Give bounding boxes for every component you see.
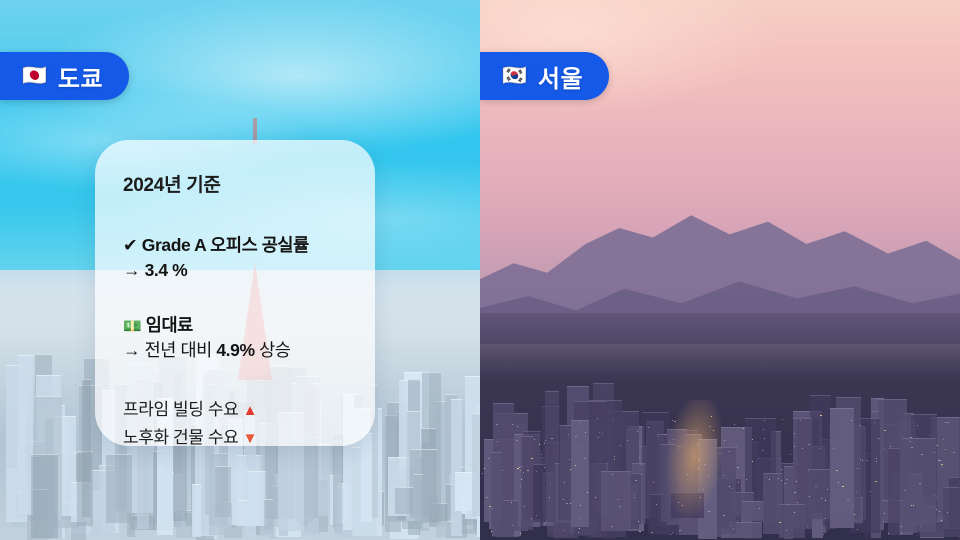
window-light — [876, 458, 877, 459]
rent-suffix: 상승 — [255, 340, 291, 360]
window-light — [617, 499, 619, 500]
window-light — [917, 438, 918, 439]
window-light — [635, 480, 637, 481]
window-light — [943, 439, 944, 440]
window-light — [936, 445, 938, 446]
window-light — [901, 526, 902, 527]
window-light — [484, 468, 485, 469]
window-light — [782, 419, 783, 420]
window-light — [890, 446, 891, 447]
window-light — [911, 505, 912, 506]
window-light — [914, 474, 915, 475]
window-light — [641, 474, 642, 475]
building-block — [779, 504, 806, 538]
window-light — [752, 439, 753, 440]
window-light — [511, 502, 512, 503]
window-light — [842, 486, 844, 487]
window-light — [911, 447, 913, 448]
tokyo-info-card: 2024년 기준 ✔ Grade A 오피스 공실률 → 3.4 % 💵 임대료… — [95, 140, 375, 446]
window-light — [599, 432, 600, 433]
window-light — [854, 514, 855, 515]
money-icon: 💵 — [123, 318, 141, 335]
window-light — [778, 478, 779, 479]
building-block — [31, 454, 58, 538]
demand-prime-row: 프라임 빌딩 수요 ▲ — [123, 396, 375, 424]
building-block — [106, 454, 132, 523]
window-light — [901, 533, 902, 534]
window-light — [953, 452, 955, 453]
window-light — [934, 452, 935, 453]
info-card-title: 2024년 기준 — [123, 170, 375, 197]
window-light — [496, 424, 498, 425]
window-light — [781, 480, 782, 481]
window-light — [942, 466, 943, 467]
window-light — [579, 528, 580, 529]
window-light — [595, 497, 596, 498]
window-light — [945, 449, 946, 450]
window-light — [641, 464, 642, 465]
window-light — [941, 520, 942, 521]
window-light — [733, 528, 734, 529]
window-light — [614, 456, 615, 457]
window-light — [904, 490, 906, 491]
window-light — [825, 518, 826, 519]
window-light — [639, 457, 640, 458]
window-light — [746, 479, 747, 480]
window-light — [637, 431, 638, 432]
window-light — [736, 446, 737, 447]
window-light — [634, 494, 635, 495]
south-korea-flag-icon: 🇰🇷 — [502, 66, 527, 86]
window-light — [859, 425, 861, 426]
building-block — [521, 436, 533, 530]
badge-tokyo[interactable]: 🇯🇵 도쿄 — [0, 52, 129, 100]
window-light — [752, 461, 753, 462]
window-light — [866, 460, 868, 461]
window-light — [732, 488, 733, 489]
window-light — [947, 422, 949, 423]
triangle-up-icon: ▲ — [243, 402, 257, 419]
window-light — [870, 491, 871, 492]
window-light — [802, 448, 803, 449]
building-block — [264, 499, 274, 529]
window-light — [815, 486, 817, 487]
window-light — [884, 448, 885, 449]
window-light — [786, 530, 787, 531]
window-light — [836, 470, 838, 471]
window-light — [521, 466, 522, 467]
window-light — [857, 529, 858, 530]
badge-seoul-label: 서울 — [538, 59, 583, 94]
window-light — [920, 526, 921, 527]
window-light — [570, 469, 571, 470]
window-light — [564, 530, 565, 531]
window-light — [638, 521, 639, 522]
rent-label: 임대료 — [146, 315, 193, 335]
window-light — [888, 533, 889, 534]
window-light — [794, 446, 795, 447]
window-light — [800, 420, 801, 421]
building-block — [571, 420, 589, 527]
window-light — [825, 500, 826, 501]
demand-prime-label: 프라임 빌딩 수요 — [123, 400, 238, 419]
window-light — [759, 508, 760, 509]
window-light — [575, 436, 577, 437]
building-block — [334, 441, 341, 533]
window-light — [523, 472, 524, 473]
window-light — [586, 508, 587, 509]
window-light — [857, 468, 858, 469]
window-light — [910, 441, 911, 442]
vacancy-value: 3.4 % — [145, 260, 188, 280]
building-block — [533, 464, 546, 522]
window-light — [639, 531, 641, 532]
window-light — [544, 523, 545, 524]
window-light — [947, 512, 948, 513]
window-light — [545, 440, 546, 441]
info-block-vacancy: ✔ Grade A 오피스 공실률 → 3.4 % — [123, 233, 375, 283]
window-light — [627, 440, 628, 441]
window-light — [531, 518, 532, 519]
window-light — [921, 454, 923, 455]
window-light — [568, 434, 569, 435]
seoul-road-lights-glow — [645, 400, 740, 540]
window-light — [541, 454, 542, 455]
window-light — [536, 515, 537, 516]
rent-value: 4.9% — [216, 340, 254, 360]
window-light — [781, 469, 782, 470]
building-block — [414, 474, 423, 528]
info-block-demand: 프라임 빌딩 수요 ▲ 노후화 건물 수요 ▼ — [123, 396, 375, 451]
window-light — [587, 492, 588, 493]
window-light — [884, 513, 885, 514]
window-light — [763, 429, 764, 430]
window-light — [939, 460, 941, 461]
rent-value-row: → 전년 대비 4.9% 상승 — [123, 338, 375, 363]
window-light — [520, 486, 521, 487]
window-light — [737, 467, 739, 468]
window-light — [613, 419, 614, 420]
window-light — [910, 437, 912, 438]
window-light — [550, 483, 551, 484]
window-light — [796, 481, 797, 482]
window-light — [862, 460, 863, 461]
window-light — [807, 526, 808, 527]
right-panel-seoul: 🇰🇷 서울 낡아가는 서울 3대 권역 오피스 (단위:%) 건물연한10년 미… — [480, 0, 960, 540]
demand-aged-label: 노후화 건물 수요 — [123, 428, 238, 447]
badge-tokyo-label: 도쿄 — [58, 59, 103, 94]
window-light — [797, 502, 798, 503]
window-light — [521, 479, 522, 480]
window-light — [489, 506, 491, 507]
building-block — [943, 487, 959, 537]
arrow-right-icon-2: → — [123, 340, 140, 360]
window-light — [597, 418, 598, 419]
window-light — [730, 525, 731, 526]
window-light — [784, 483, 786, 484]
window-light — [614, 459, 615, 460]
building-block — [503, 500, 518, 530]
demand-aged-row: 노후화 건물 수요 ▼ — [123, 424, 375, 452]
vacancy-value-row: → 3.4 % — [123, 258, 375, 283]
badge-seoul[interactable]: 🇰🇷 서울 — [480, 52, 609, 100]
window-light — [611, 526, 613, 527]
window-light — [575, 465, 576, 466]
window-light — [520, 533, 521, 534]
window-light — [875, 481, 877, 482]
window-light — [808, 470, 809, 471]
window-light — [648, 427, 649, 428]
building-block — [82, 379, 91, 517]
window-light — [847, 500, 849, 501]
window-light — [876, 461, 877, 462]
window-light — [838, 482, 839, 483]
window-light — [569, 459, 570, 460]
window-light — [546, 521, 547, 522]
window-light — [779, 522, 781, 523]
window-light — [517, 468, 519, 469]
window-light — [544, 467, 545, 468]
window-light — [534, 439, 535, 440]
window-light — [833, 448, 834, 449]
window-light — [769, 479, 770, 480]
window-light — [821, 498, 822, 499]
building-block — [192, 484, 201, 536]
window-light — [580, 422, 581, 423]
window-light — [612, 474, 613, 475]
window-light — [913, 505, 914, 506]
window-light — [598, 437, 599, 438]
window-light — [634, 497, 635, 498]
building-block — [18, 355, 33, 515]
window-light — [856, 491, 857, 492]
vacancy-label: Grade A 오피스 공실률 — [142, 235, 309, 255]
building-block — [888, 448, 901, 535]
window-light — [827, 530, 828, 531]
info-block-rent: 💵 임대료 → 전년 대비 4.9% 상승 — [123, 313, 375, 363]
check-icon: ✔ — [123, 235, 137, 255]
window-light — [883, 521, 884, 522]
vacancy-headline: ✔ Grade A 오피스 공실률 — [123, 233, 375, 258]
window-light — [578, 532, 579, 533]
window-light — [743, 428, 744, 429]
japan-flag-icon: 🇯🇵 — [22, 66, 47, 86]
window-light — [919, 483, 921, 484]
window-light — [884, 430, 886, 431]
window-light — [564, 482, 565, 483]
window-light — [764, 438, 765, 439]
window-light — [786, 479, 788, 480]
window-light — [945, 422, 946, 423]
window-light — [539, 444, 540, 445]
window-light — [794, 433, 795, 434]
window-light — [520, 470, 521, 471]
building-block — [472, 413, 480, 516]
window-light — [737, 520, 738, 521]
window-light — [482, 473, 483, 474]
window-light — [527, 470, 529, 471]
window-light — [602, 433, 603, 434]
rent-headline: 💵 임대료 — [123, 313, 375, 338]
building-block — [601, 471, 630, 531]
window-light — [794, 492, 796, 493]
window-light — [544, 443, 545, 444]
window-light — [516, 440, 518, 441]
window-light — [531, 458, 533, 459]
building-block — [830, 408, 855, 529]
window-light — [766, 477, 767, 478]
window-light — [512, 424, 513, 425]
window-light — [580, 505, 581, 506]
window-light — [820, 415, 822, 416]
window-light — [808, 444, 810, 445]
window-light — [619, 506, 621, 507]
window-light — [563, 499, 564, 500]
window-light — [788, 504, 789, 505]
window-light — [536, 471, 537, 472]
window-light — [794, 512, 795, 513]
building-block — [215, 466, 230, 517]
window-light — [517, 426, 518, 427]
window-light — [524, 506, 525, 507]
window-light — [790, 454, 791, 455]
window-light — [917, 425, 918, 426]
window-light — [491, 531, 492, 532]
window-light — [764, 420, 765, 421]
window-light — [566, 503, 568, 504]
window-light — [878, 438, 880, 439]
window-light — [827, 489, 828, 490]
window-light — [874, 422, 875, 423]
window-light — [584, 458, 586, 459]
window-light — [823, 534, 824, 535]
window-light — [570, 503, 571, 504]
window-light — [853, 504, 854, 505]
building-block — [902, 438, 936, 532]
window-light — [936, 509, 937, 510]
window-light — [929, 435, 930, 436]
window-light — [549, 497, 550, 498]
window-light — [512, 525, 513, 526]
window-light — [488, 458, 489, 459]
triangle-down-icon: ▼ — [243, 430, 257, 447]
window-light — [809, 496, 810, 497]
window-light — [819, 448, 820, 449]
comparison-infographic: 🇯🇵 도쿄 2024년 기준 ✔ Grade A 오피스 공실률 → 3.4 %… — [0, 0, 960, 540]
window-light — [934, 495, 935, 496]
building-block — [395, 487, 414, 513]
arrow-right-icon: → — [123, 260, 140, 280]
window-light — [851, 420, 852, 421]
window-light — [581, 447, 582, 448]
window-light — [502, 470, 503, 471]
window-light — [551, 438, 553, 439]
window-light — [762, 450, 764, 451]
window-light — [497, 441, 498, 442]
window-light — [738, 482, 739, 483]
window-light — [620, 445, 621, 446]
window-light — [580, 518, 581, 519]
building-block — [451, 399, 463, 535]
window-light — [486, 497, 488, 498]
left-panel-tokyo: 🇯🇵 도쿄 2024년 기준 ✔ Grade A 오피스 공실률 → 3.4 %… — [0, 0, 480, 540]
rent-prefix: 전년 대비 — [145, 340, 217, 360]
window-light — [860, 459, 861, 460]
window-light — [939, 511, 940, 512]
building-block — [742, 501, 763, 521]
window-light — [492, 508, 493, 509]
building-block — [491, 452, 502, 532]
window-light — [585, 432, 586, 433]
